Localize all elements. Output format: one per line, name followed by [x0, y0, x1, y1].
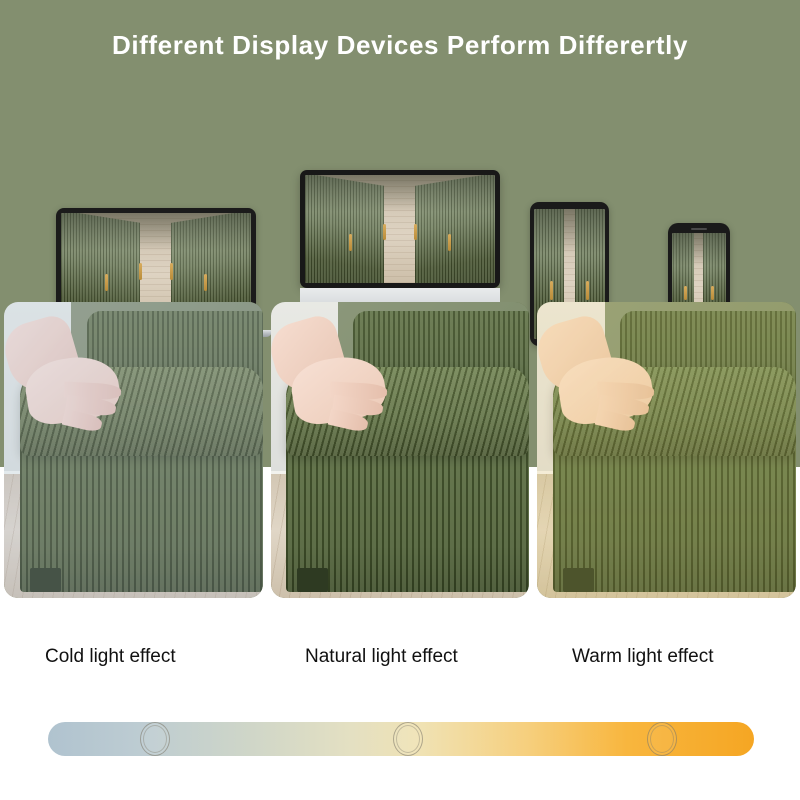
sofa-vignette [305, 175, 495, 283]
hand-on-armrest [540, 320, 659, 432]
slider-knob-natural[interactable] [393, 722, 423, 756]
caption-cold-light: Cold light effect [45, 646, 176, 668]
slider-knob-warm[interactable] [647, 722, 677, 756]
page-title: Different Display Devices Perform Differ… [0, 30, 800, 61]
infographic-page: Different Display Devices Perform Differ… [0, 0, 800, 800]
armchair-scene [4, 302, 263, 598]
light-effect-card-warm [537, 302, 796, 598]
device-showcase-row: MacBook Air [0, 80, 800, 280]
sofa-photo-monitor [305, 175, 495, 283]
monitor-screen [305, 175, 495, 283]
armchair-scene [271, 302, 530, 598]
armchair-scene [537, 302, 796, 598]
caption-warm-light: Warm light effect [572, 646, 714, 668]
hand-on-armrest [273, 320, 392, 432]
caption-natural-light: Natural light effect [305, 646, 458, 668]
chair-leg [297, 568, 328, 592]
caption-row: Cold light effect Natural light effect W… [0, 646, 800, 682]
monitor-bezel [300, 170, 500, 288]
chair-leg [30, 568, 61, 592]
light-effect-card-row [0, 302, 800, 598]
slider-knob-cold[interactable] [140, 722, 170, 756]
light-effect-card-natural [271, 302, 530, 598]
chair-leg [563, 568, 594, 592]
hand-on-armrest [7, 320, 126, 432]
color-temperature-slider[interactable] [48, 722, 754, 756]
phone-speaker-icon [691, 228, 707, 230]
light-effect-card-cold [4, 302, 263, 598]
